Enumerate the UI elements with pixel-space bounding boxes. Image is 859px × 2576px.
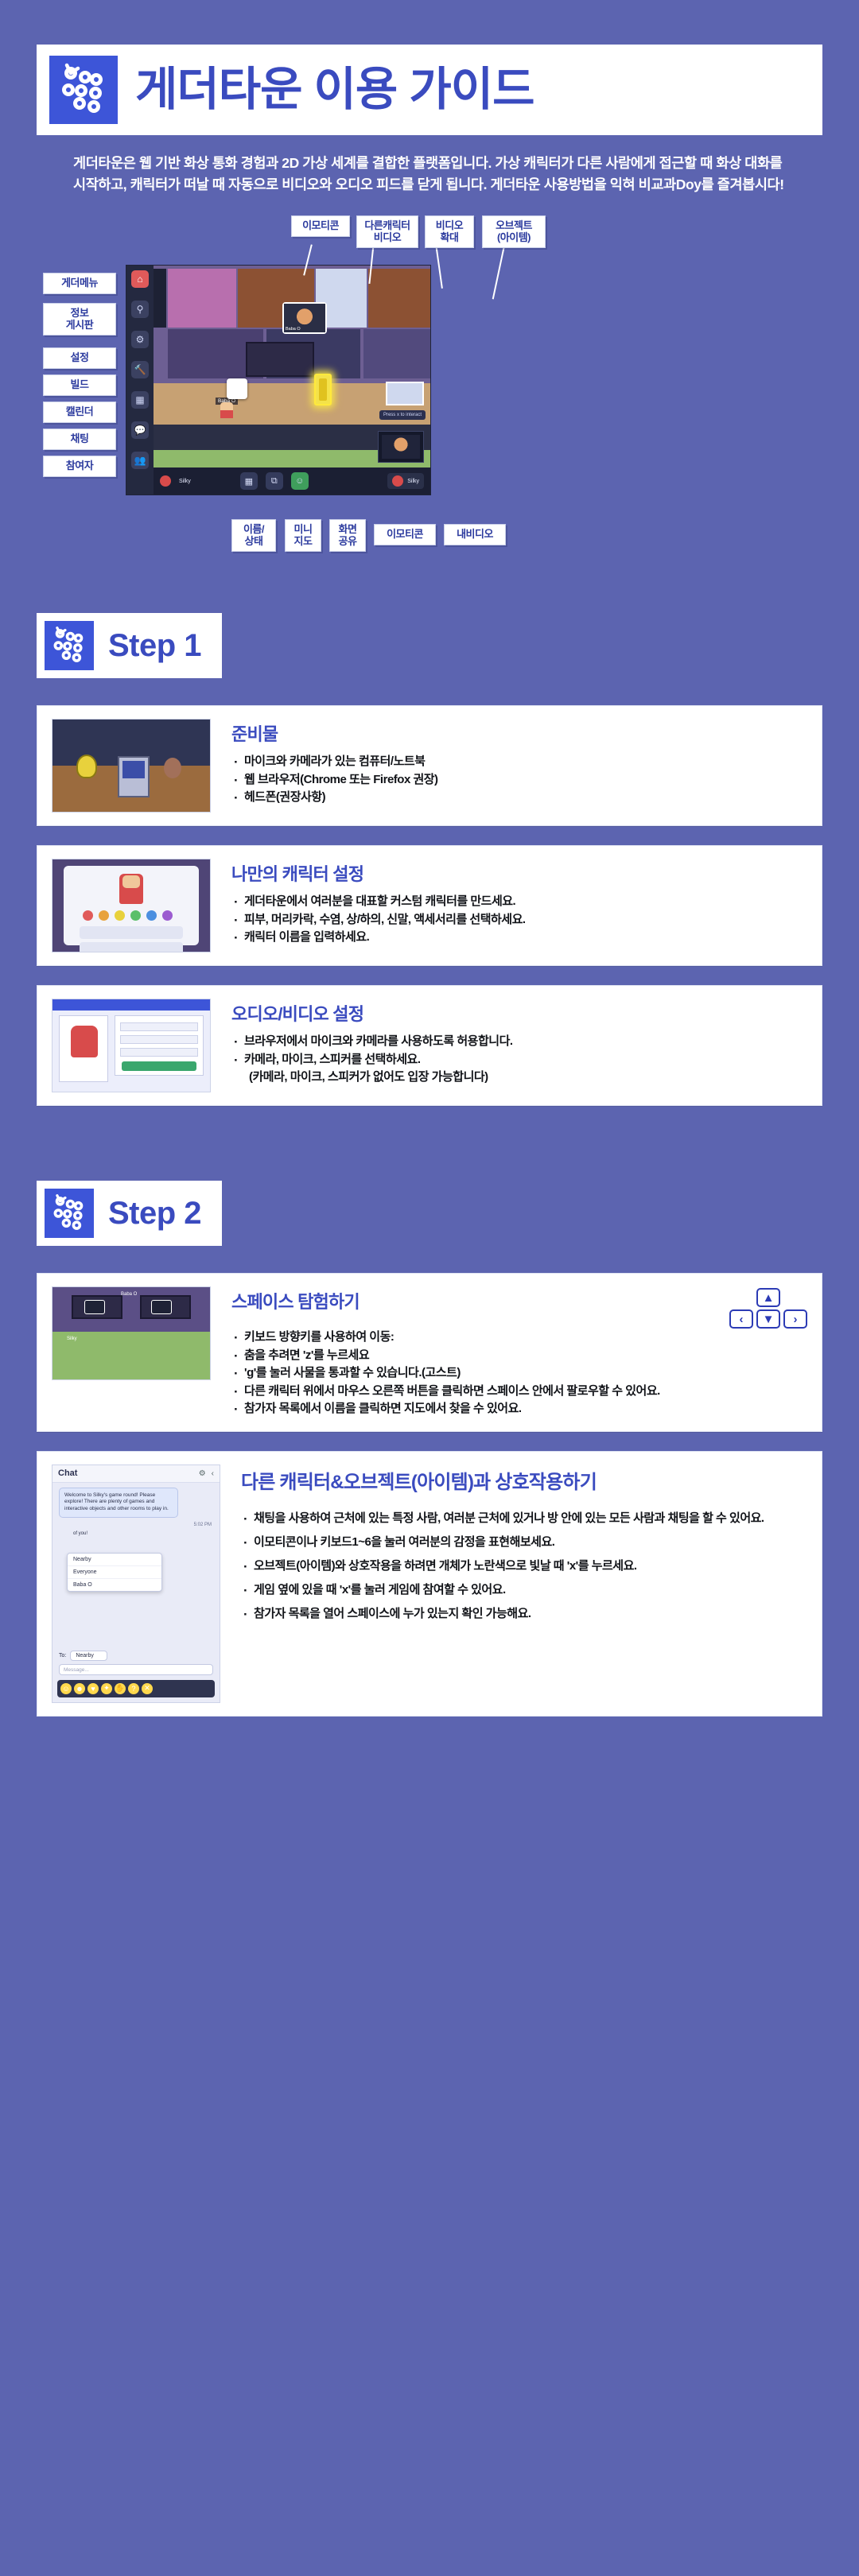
thumb-video-chip (151, 1300, 172, 1314)
header-band: 게더타운 이용 가이드 게더타운은 웹 기반 화상 통화 경험과 2D 가상 세… (0, 0, 859, 195)
leader-line (435, 244, 443, 289)
character-editor-thumb (52, 859, 211, 952)
gather-logo-icon (49, 56, 118, 124)
chat-to-select[interactable]: Nearby (70, 1651, 107, 1661)
minimap (386, 382, 424, 405)
list-item: 'g'를 눌러 사물을 통과할 수 있습니다.(고스트) (231, 1364, 807, 1383)
gather-logo-icon (45, 621, 94, 670)
gather-bottom-bar: Silky ▦ ⧉ ☺ Silky (154, 467, 430, 495)
callout-minimap: 미니 지도 (285, 519, 321, 552)
list-item: 브라우저에서 마이크와 카메라를 사용하도록 허용합니다. (231, 1033, 807, 1051)
thumb-avatar (119, 874, 143, 904)
list-item: 참가자 목록을 열어 스페이스에 누가 있는지 확인 가능해요. (241, 1602, 807, 1626)
thumb-name-label: Baba O (121, 1292, 137, 1297)
list-item: 헤드폰(권장사항) (231, 789, 807, 807)
step-1-label: Step 1 (108, 628, 201, 664)
desk-scene-thumb (52, 719, 211, 813)
dropdown-option-user[interactable]: Baba O (68, 1579, 161, 1591)
thumb-avatar-right (164, 758, 181, 778)
callout-screen-share: 화면 공유 (329, 519, 366, 552)
emoticon-popup-icon: 😀 (227, 378, 247, 399)
chat-recipient-dropdown[interactable]: Nearby Everyone Baba O (67, 1553, 162, 1592)
emoticon-icon[interactable]: ☺ (291, 472, 309, 490)
callout-other-character-video: 다른캐릭터 비디오 (356, 215, 418, 248)
card-explore-space: Baba O Silky 스페이스 탐험하기 ▲ ‹ ▼ › (37, 1273, 822, 1432)
thumb-preview (59, 1015, 108, 1082)
callout-emoticon-bottom: 이모티콘 (374, 524, 436, 545)
thumb-name-label: Silky (67, 1336, 77, 1341)
list-item: 캐릭터 이름을 입력하세요. (231, 929, 807, 947)
bullet-list: 게더타운에서 여러분을 대표할 커스텀 캐릭터를 만드세요. 피부, 머리카락,… (231, 893, 807, 947)
chat-welcome-message: Welcome to Silky's game round! Please ex… (59, 1488, 178, 1518)
screenshare-icon[interactable]: ⧉ (266, 472, 283, 490)
game-room-pink (168, 269, 236, 328)
chat-timestamp: 5:02 PM (194, 1523, 212, 1527)
card-character-setup: 나만의 캐릭터 설정 게더타운에서 여러분을 대표할 커스텀 캐릭터를 만드세요… (37, 845, 822, 966)
title-card: 게더타운 이용 가이드 (37, 45, 822, 135)
list-item: 오브젝트(아이템)와 상호작용을 하려면 개체가 노란색으로 빛날 때 'x'를… (241, 1554, 807, 1578)
arrow-up-key[interactable]: ▲ (756, 1288, 780, 1307)
dropdown-option-everyone[interactable]: Everyone (68, 1566, 161, 1579)
card-title: 다른 캐릭터&오브젝트(아이템)과 상호작용하기 (241, 1466, 807, 1494)
list-item: 춤을 추려면 'z'를 누르세요 (231, 1347, 807, 1365)
thumb-select (120, 1022, 198, 1031)
list-item: 키보드 방향키를 사용하여 이동: (231, 1329, 807, 1347)
minimap-icon[interactable]: ▦ (240, 472, 258, 490)
chat-panel-title: Chat (58, 1468, 77, 1478)
chat-message-line: of you! (73, 1530, 188, 1537)
callout-calendar: 캘린더 (43, 402, 116, 423)
emoji-4-icon[interactable]: ✦ (101, 1683, 112, 1694)
arrow-keys-top-row: ▲ (756, 1288, 780, 1307)
callout-my-video: 내비디오 (444, 524, 506, 545)
bullet-list: 마이크와 카메라가 있는 컴퓨터/노트북 웹 브라우저(Chrome 또는 Fi… (231, 753, 807, 807)
intro-paragraph: 게더타운은 웹 기반 화상 통화 경험과 2D 가상 세계를 결합한 플랫폼입니… (37, 135, 822, 195)
list-item: 마이크와 카메라가 있는 컴퓨터/노트북 (231, 753, 807, 771)
thumb-option-row (80, 942, 183, 952)
my-video-label: Silky (407, 479, 419, 484)
card-body: 스페이스 탐험하기 ▲ ‹ ▼ › 키보드 방향키를 사용하여 이동: 춤을 추… (231, 1286, 807, 1418)
annotated-screenshot: 이모티콘 다른캐릭터 비디오 비디오 확대 오브젝트 (아이템) 게더메뉴 정보… (37, 215, 822, 557)
bullet-list: 채팅을 사용하여 근처에 있는 특정 사람, 여러분 근처에 있거나 방 안에 … (241, 1507, 807, 1626)
game-table (246, 342, 314, 377)
chat-message-input[interactable]: Message... (59, 1664, 213, 1675)
bullet-list: 브라우저에서 마이크와 카메라를 사용하도록 허용합니다. 카메라, 마이크, … (231, 1033, 807, 1087)
list-item: 채팅을 사용하여 근처에 있는 특정 사람, 여러분 근처에 있거나 방 안에 … (241, 1507, 807, 1530)
thumb-select (120, 1048, 198, 1057)
callout-video-enlarge: 비디오 확대 (425, 215, 474, 248)
callout-chat: 채팅 (43, 429, 116, 450)
my-video-tile (378, 431, 424, 463)
leader-line (492, 245, 506, 300)
chat-panel-header: Chat ⚙ ‹ (52, 1465, 220, 1483)
my-video-chip[interactable]: Silky (387, 473, 424, 489)
thumb-video-chip (84, 1300, 105, 1314)
list-item: 카메라, 마이크, 스피커를 선택하세요. (231, 1051, 807, 1069)
card-preparation: 준비물 마이크와 카메라가 있는 컴퓨터/노트북 웹 브라우저(Chrome 또… (37, 705, 822, 826)
participants-icon[interactable]: 👥 (131, 452, 149, 469)
my-video-face (382, 435, 420, 459)
card-title: 나만의 캐릭터 설정 (231, 860, 807, 886)
arrow-keys-diagram: ▲ ‹ ▼ › (729, 1288, 807, 1329)
thumb-swatch (115, 910, 125, 921)
chevron-left-icon[interactable]: ‹ (212, 1469, 214, 1478)
thumb-settings-panel (115, 1015, 204, 1076)
card-title: 스페이스 탐험하기 (231, 1288, 360, 1313)
thumb-art: Baba O Silky (52, 1287, 210, 1379)
chat-app-thumb: Chat ⚙ ‹ Welcome to Silky's game round! … (52, 1465, 220, 1703)
home-icon[interactable]: ⌂ (131, 270, 149, 288)
thumb-panel (64, 866, 199, 945)
emoji-close-icon[interactable]: ✕ (142, 1683, 153, 1694)
calendar-icon[interactable]: ▦ (131, 391, 149, 409)
thumb-header (52, 999, 210, 1011)
emoji-3-icon[interactable]: ♥ (87, 1683, 99, 1694)
arrow-left-key[interactable]: ‹ (729, 1309, 753, 1329)
emoji-5-icon[interactable]: ✋ (115, 1683, 126, 1694)
thumb-swatch (130, 910, 141, 921)
list-item: 다른 캐릭터 위에서 마우스 오른쪽 버튼을 클릭하면 스페이스 안에서 팔로우… (231, 1383, 807, 1401)
gather-left-rail: ⌂ ⚲ ⚙ 🔨 ▦ 💬 👥 (126, 266, 154, 495)
av-settings-thumb (52, 999, 211, 1092)
gear-icon[interactable]: ⚙ (199, 1469, 206, 1478)
thumb-swatch (162, 910, 173, 921)
game-room-brick2 (368, 269, 430, 328)
game-room-lower-right (363, 329, 430, 378)
pin-icon[interactable]: ⚲ (131, 301, 149, 318)
space-explore-thumb: Baba O Silky (52, 1286, 211, 1380)
list-item: (카메라, 마이크, 스피커가 없어도 입장 가능합니다) (231, 1069, 807, 1087)
thumb-swatch (83, 910, 93, 921)
chat-to-row: To: Nearby (59, 1651, 107, 1661)
my-name-status: Silky (179, 479, 191, 484)
card-av-settings: 오디오/비디오 설정 브라우저에서 마이크와 카메라를 사용하도록 허용합니다.… (37, 985, 822, 1106)
list-item: 피부, 머리카락, 수염, 상/하의, 신말, 액세서리를 선택하세요. (231, 911, 807, 929)
thumb-option-row (80, 926, 183, 939)
emoji-1-icon[interactable]: ☺ (60, 1683, 72, 1694)
thumb-select (120, 1035, 198, 1044)
callout-build: 빌드 (43, 374, 116, 396)
list-item: 게임 옆에 있을 때 'x'를 눌러 게임에 참여할 수 있어요. (241, 1578, 807, 1602)
arrow-right-key[interactable]: › (783, 1309, 807, 1329)
build-hammer-icon[interactable]: 🔨 (131, 361, 149, 378)
card-body: 준비물 마이크와 카메라가 있는 컴퓨터/노트북 웹 브라우저(Chrome 또… (231, 719, 807, 813)
thumb-swatch (146, 910, 157, 921)
callout-emoticon-top: 이모티콘 (291, 215, 350, 237)
guide-page: 게더타운 이용 가이드 게더타운은 웹 기반 화상 통화 경험과 2D 가상 세… (0, 0, 859, 1783)
thumb-art (52, 999, 210, 1092)
list-item: 게더타운에서 여러분을 대표할 커스텀 캐릭터를 만드세요. (231, 893, 807, 911)
step-2-banner: Step 2 (37, 1181, 222, 1246)
gear-icon[interactable]: ⚙ (131, 331, 149, 348)
thumb-art (52, 859, 210, 952)
card-title: 오디오/비디오 설정 (231, 1000, 807, 1026)
emoji-6-icon[interactable]: ? (128, 1683, 139, 1694)
arrow-down-key[interactable]: ▼ (756, 1309, 780, 1329)
callout-settings: 설정 (43, 347, 116, 369)
list-item: 이모티콘이나 키보드1~6을 눌러 여러분의 감정을 표현해보세요. (241, 1530, 807, 1554)
thumb-art (52, 720, 210, 812)
emoji-2-icon[interactable]: ☻ (74, 1683, 85, 1694)
object-inner (319, 378, 327, 401)
card-body: 다른 캐릭터&오브젝트(아이템)과 상호작용하기 채팅을 사용하여 근처에 있는… (241, 1465, 807, 1703)
thumb-join-button (122, 1061, 196, 1071)
chat-to-label: To: (59, 1653, 66, 1658)
list-item: 웹 브라우저(Chrome 또는 Firefox 권장) (231, 771, 807, 789)
gather-game-window: Baba O 😀 Baba O Press x to interact (126, 265, 431, 495)
callout-object-item: 오브젝트 (아이템) (482, 215, 546, 248)
card-body: 나만의 캐릭터 설정 게더타운에서 여러분을 대표할 커스텀 캐릭터를 만드세요… (231, 859, 807, 952)
arrow-keys-bottom-row: ‹ ▼ › (729, 1309, 807, 1329)
title-row: 스페이스 탐험하기 ▲ ‹ ▼ › (231, 1288, 807, 1329)
chat-header-icons: ⚙ ‹ (199, 1469, 214, 1478)
callout-info-board: 정보 게시판 (43, 303, 116, 336)
avatar-body (220, 410, 233, 418)
status-avatar-dot[interactable] (160, 475, 171, 487)
card-interaction: Chat ⚙ ‹ Welcome to Silky's game round! … (37, 1451, 822, 1717)
my-video-dot (392, 475, 403, 487)
interaction-toast: Press x to interact (379, 410, 426, 420)
other-character-video-bubble: Baba O (282, 302, 327, 334)
video-name-label: Baba O (286, 327, 301, 332)
highlighted-object-icon (314, 374, 332, 405)
list-item: 참가자 목록에서 이름을 클릭하면 지도에서 찾을 수 있어요. (231, 1400, 807, 1418)
step-1-banner: Step 1 (37, 613, 222, 678)
callout-participants: 참여자 (43, 456, 116, 477)
bullet-list: 키보드 방향키를 사용하여 이동: 춤을 추려면 'z'를 누르세요 'g'를 … (231, 1329, 807, 1418)
avatar-head (220, 402, 233, 410)
thumb-computer (118, 756, 150, 797)
page-title: 게더타운 이용 가이드 (135, 67, 534, 113)
step-2-label: Step 2 (108, 1196, 201, 1232)
callout-gather-menu: 게더메뉴 (43, 273, 116, 294)
thumb-swatch (99, 910, 109, 921)
chat-icon[interactable]: 💬 (131, 421, 149, 439)
callout-name-status: 이름/ 상태 (231, 519, 276, 552)
thumb-avatar-left (76, 755, 97, 778)
avatar (220, 402, 233, 418)
card-title: 준비물 (231, 720, 807, 746)
gather-logo-icon (45, 1189, 94, 1238)
dropdown-option-nearby[interactable]: Nearby (68, 1554, 161, 1566)
emoji-bar: ☺ ☻ ♥ ✦ ✋ ? ✕ (57, 1680, 215, 1697)
card-body: 오디오/비디오 설정 브라우저에서 마이크와 카메라를 사용하도록 허용합니다.… (231, 999, 807, 1092)
